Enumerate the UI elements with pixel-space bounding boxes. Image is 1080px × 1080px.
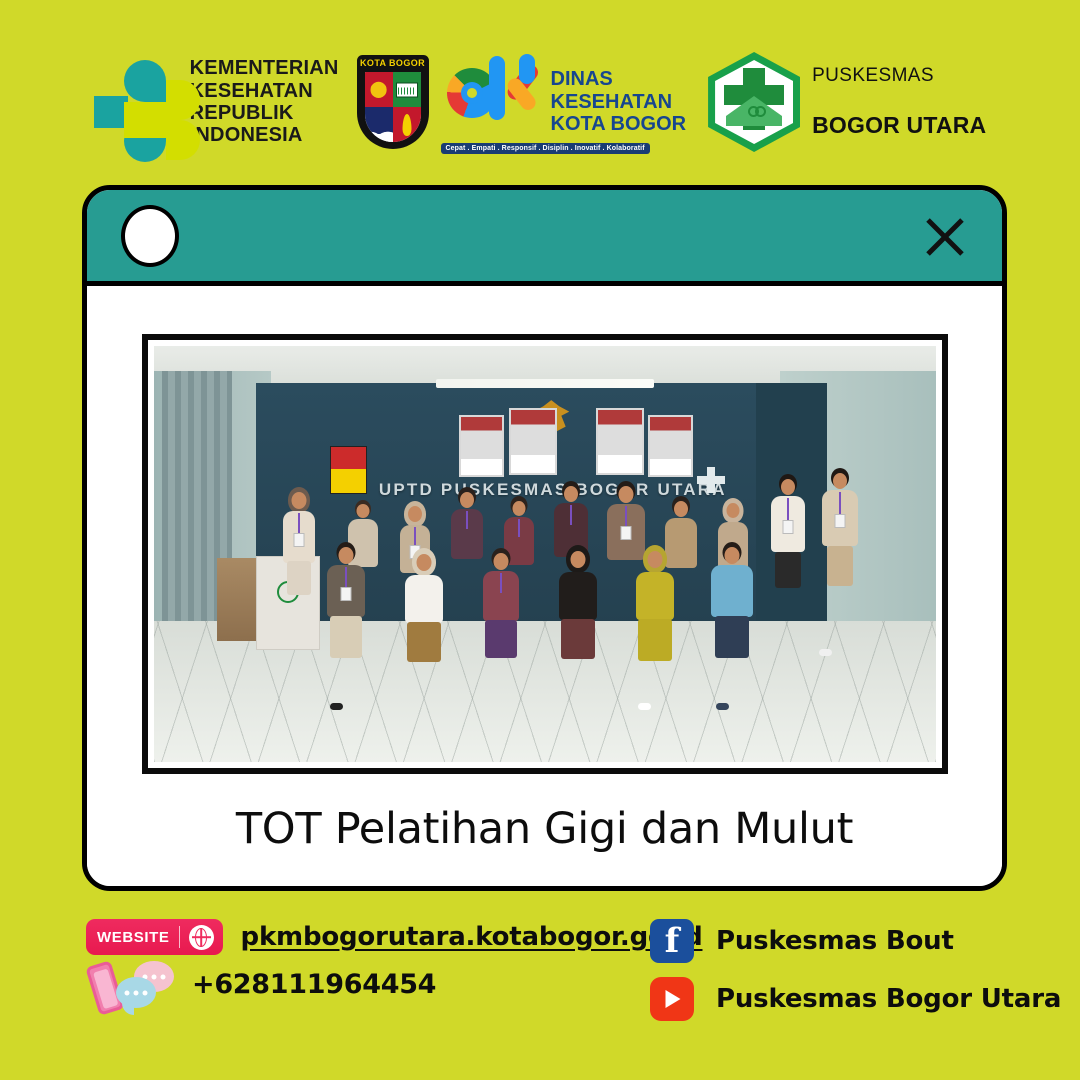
kemenkes-pinwheel-icon — [94, 52, 178, 152]
puskesmas-label-line2: BOGOR UTARA — [812, 112, 986, 140]
social-youtube-row[interactable]: Puskesmas Bogor Utara — [650, 977, 1061, 1021]
social-facebook-row[interactable]: f Puskesmas Bout — [650, 919, 1061, 963]
dinas-kesehatan-dk-icon: Cepat . Empati . Responsif . Disiplin . … — [445, 52, 541, 152]
crest-banner-label: KOTA BOGOR — [360, 58, 425, 68]
website-badge[interactable]: WEBSITE — [86, 919, 223, 955]
photo-frame: UPTD PUSKESMAS BOGOR UTARA — [142, 334, 948, 774]
website-url-link[interactable]: pkmbogorutara.kotabogor.go.id — [241, 922, 703, 952]
logo-dinas-kesehatan: Cepat . Empati . Responsif . Disiplin . … — [445, 52, 687, 152]
browser-content-area: UPTD PUSKESMAS BOGOR UTARA — [87, 286, 1002, 891]
phone-number: +628111964454 — [192, 969, 436, 1000]
wall-portrait — [509, 408, 557, 474]
photo-people-front-row — [326, 542, 780, 708]
facebook-label: Puskesmas Bout — [716, 926, 954, 956]
browser-title-bar — [87, 190, 1002, 286]
dinas-kesehatan-label: DINAS KESEHATAN KOTA BOGOR — [551, 68, 687, 135]
kota-bogor-coat-of-arms-icon: KOTA BOGOR ⬤ — [357, 55, 429, 149]
logo-kemenkes: KEMENTERIAN KESEHATAN REPUBLIK INDONESIA — [94, 52, 339, 152]
logo-puskesmas: PUSKESMAS BOGOR UTARA — [686, 41, 986, 163]
phone-row: +628111964454 — [86, 955, 646, 1013]
browser-window-card: UPTD PUSKESMAS BOGOR UTARA — [82, 185, 1007, 891]
website-badge-label: WEBSITE — [97, 929, 170, 946]
youtube-label: Puskesmas Bogor Utara — [716, 984, 1061, 1014]
puskesmas-label-line1: PUSKESMAS — [812, 65, 986, 88]
puskesmas-hexagon-icon — [708, 52, 800, 152]
chat-bubble-icon — [116, 977, 156, 1008]
footer-contact-bar: WEBSITE pkmbogorutara.kotabogor.go.id +6… — [0, 905, 1080, 1035]
facebook-icon[interactable]: f — [650, 919, 694, 963]
globe-icon — [189, 925, 214, 950]
close-x-icon[interactable] — [916, 207, 974, 265]
website-row: WEBSITE pkmbogorutara.kotabogor.go.id — [86, 919, 646, 955]
page-title: TOT Pelatihan Gigi dan Mulut — [87, 804, 1002, 854]
kemenkes-label: KEMENTERIAN KESEHATAN REPUBLIK INDONESIA — [190, 57, 339, 147]
group-photo-image: UPTD PUSKESMAS BOGOR UTARA — [154, 346, 936, 762]
header-logo-bar: KEMENTERIAN KESEHATAN REPUBLIK INDONESIA… — [0, 42, 1080, 162]
dinas-kesehatan-tagline: Cepat . Empati . Responsif . Disiplin . … — [441, 143, 650, 154]
wall-portrait — [459, 415, 504, 477]
wall-portrait — [648, 415, 693, 477]
youtube-icon[interactable] — [650, 977, 694, 1021]
wall-portrait — [596, 408, 644, 474]
url-circle-icon[interactable] — [121, 205, 179, 267]
